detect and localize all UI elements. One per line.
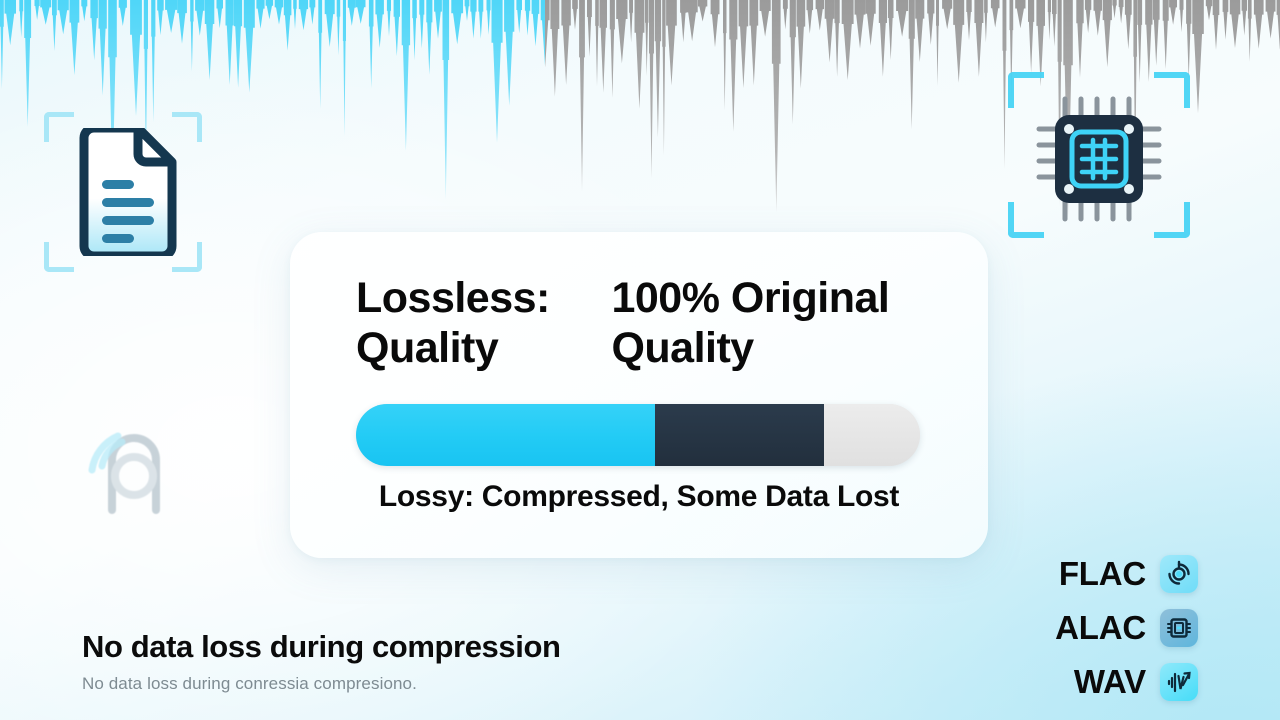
- format-item-wav[interactable]: WAV: [1055, 660, 1198, 704]
- bracket-bottom-left-icon: [44, 242, 74, 272]
- document-icon: [72, 128, 180, 256]
- disc-target-icon: [1160, 555, 1198, 593]
- quality-comparison-card: Lossless: Quality 100% Original Quality …: [290, 232, 988, 558]
- progress-segment-remainder: [824, 404, 920, 466]
- original-quality-heading: 100% Original Quality: [611, 274, 936, 374]
- format-label-flac: FLAC: [1059, 555, 1146, 593]
- processor-chip-icon: [1035, 95, 1163, 223]
- format-list: FLAC ALAC: [1055, 552, 1198, 704]
- waveform-arrow-icon: [1160, 663, 1198, 701]
- progress-segment-lossy: [655, 404, 824, 466]
- bottom-text-block: No data loss during compression No data …: [82, 628, 561, 694]
- quality-progress-bar[interactable]: [356, 404, 920, 466]
- format-item-flac[interactable]: FLAC: [1055, 552, 1198, 596]
- card-heading-row: Lossless: Quality 100% Original Quality: [356, 274, 936, 374]
- chip-icon: [1160, 609, 1198, 647]
- bottom-headline: No data loss during compression: [82, 628, 561, 665]
- lossy-caption: Lossy: Compressed, Some Data Lost: [290, 480, 988, 514]
- ghost-audio-icon: [76, 418, 196, 528]
- progress-segment-lossless: [356, 404, 655, 466]
- lossless-quality-heading: Lossless: Quality: [356, 274, 567, 374]
- bottom-subtitle: No data loss during conressia compresion…: [82, 674, 561, 694]
- format-label-alac: ALAC: [1055, 609, 1146, 647]
- poster-canvas: Lossless: Quality 100% Original Quality …: [0, 0, 1280, 720]
- bracket-top-left-icon: [44, 112, 74, 142]
- format-item-alac[interactable]: ALAC: [1055, 606, 1198, 650]
- format-label-wav: WAV: [1074, 663, 1146, 701]
